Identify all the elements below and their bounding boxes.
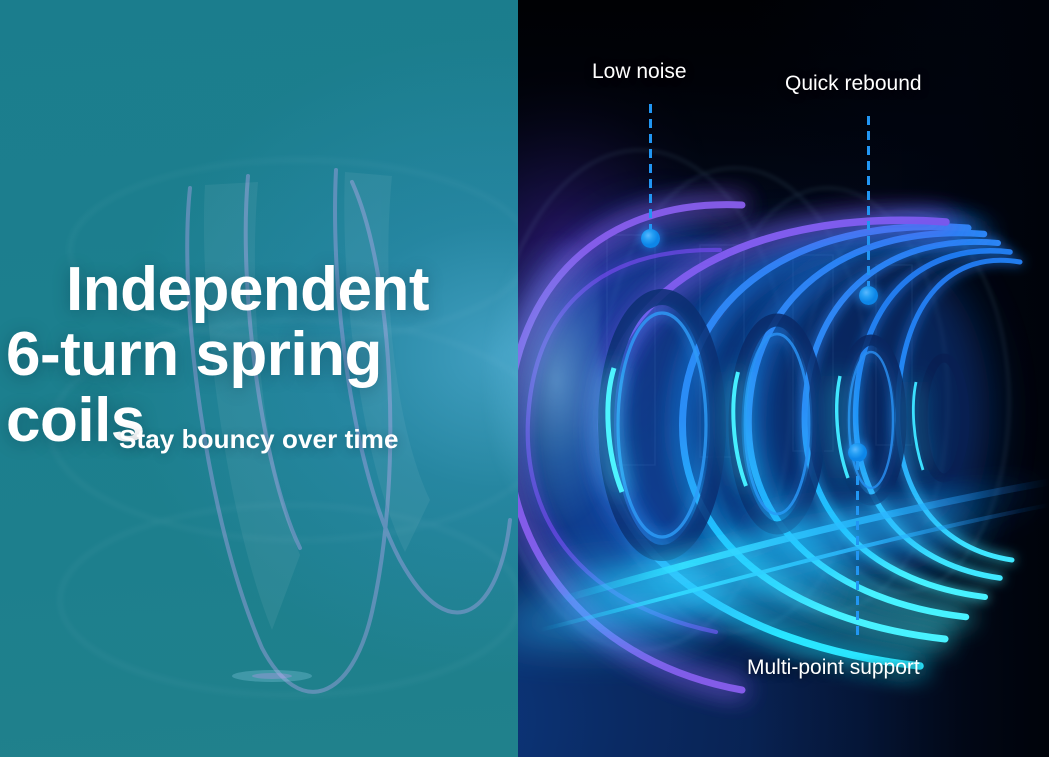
headline-line-1: Independent [0, 258, 520, 322]
callout-low-noise-line [649, 104, 652, 230]
callout-quick-rebound-line [867, 116, 870, 286]
dark-right-vignette [749, 0, 1049, 757]
callout-quick-rebound-label: Quick rebound [785, 72, 922, 96]
subtitle: Stay bouncy over time [119, 424, 399, 455]
callout-quick-rebound-dot[interactable] [859, 286, 878, 305]
callout-multi-point-support-label: Multi-point support [747, 656, 920, 680]
callout-low-noise-label: Low noise [592, 60, 687, 84]
callout-low-noise-dot[interactable] [641, 229, 660, 248]
callout-multi-point-support-line [856, 461, 859, 641]
promo-banner: Independent 6-turn spring coils Stay bou… [0, 0, 1049, 757]
callout-multi-point-support-dot[interactable] [848, 443, 867, 462]
